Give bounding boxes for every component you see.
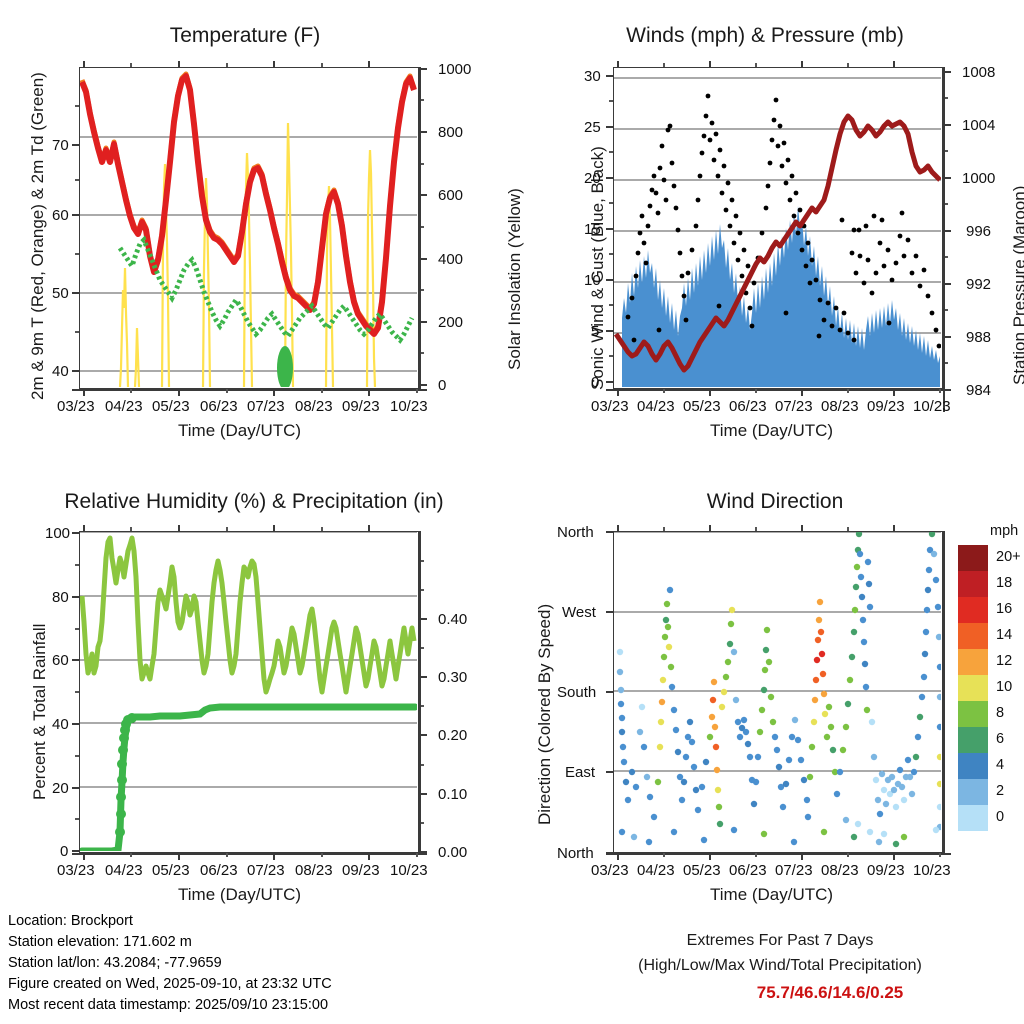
rh-x-tick-5: 08/23 bbox=[295, 862, 333, 879]
temperature-x-axis bbox=[72, 389, 427, 391]
winds-right-spine bbox=[943, 67, 945, 412]
colorbar-label-16: 16 bbox=[996, 601, 1012, 617]
rh-x-tick-0: 03/23 bbox=[57, 862, 95, 879]
colorbar-label-0: 0 bbox=[996, 809, 1004, 825]
x-tick-5: 08/23 bbox=[295, 398, 333, 415]
y2-tick-800: 800 bbox=[438, 124, 463, 141]
wind-tick-5: 5 bbox=[591, 323, 599, 340]
relative-humidity-series bbox=[82, 538, 414, 692]
wind-tick-15: 15 bbox=[584, 221, 601, 238]
rh-x-tick-6: 09/23 bbox=[342, 862, 380, 879]
winds-x-axis bbox=[606, 389, 951, 391]
direction-x-axis bbox=[606, 853, 951, 855]
pressure-tick-988: 988 bbox=[966, 329, 991, 346]
y2-tick-400: 400 bbox=[438, 251, 463, 268]
colorbar-swatch-14 bbox=[958, 623, 988, 649]
rh-tick-80: 80 bbox=[52, 589, 69, 606]
pressure-axis-label: Station Pressure (Maroon) bbox=[1010, 186, 1024, 385]
precip-tick-010: 0.10 bbox=[438, 786, 467, 803]
humidity-plot-svg bbox=[80, 532, 417, 851]
colorbar-swatch-6 bbox=[958, 727, 988, 753]
colorbar-label-2: 2 bbox=[996, 783, 1004, 799]
x-tick-6: 09/23 bbox=[342, 398, 380, 415]
colorbar-swatch-12 bbox=[958, 649, 988, 675]
winds-plot-frame bbox=[613, 67, 943, 389]
colorbar-label-20plus: 20+ bbox=[996, 549, 1021, 565]
humidity-x-axis bbox=[72, 853, 427, 855]
pressure-tick-984: 984 bbox=[966, 382, 991, 399]
colorbar-unit-label: mph bbox=[990, 523, 1018, 539]
colorbar-swatch-16 bbox=[958, 597, 988, 623]
rh-x-tick-3: 06/23 bbox=[200, 862, 238, 879]
footer-timestamp: Most recent data timestamp: 2025/09/10 2… bbox=[8, 997, 328, 1013]
dir-x-tick-2: 05/23 bbox=[683, 862, 721, 879]
y2-tick-200: 200 bbox=[438, 314, 463, 331]
precip-tick-000: 0.00 bbox=[438, 844, 467, 861]
pressure-tick-1008: 1008 bbox=[962, 64, 995, 81]
y2-tick-600: 600 bbox=[438, 187, 463, 204]
dir-x-tick-4: 07/23 bbox=[775, 862, 813, 879]
x-tick-7: 10/23 bbox=[390, 398, 428, 415]
extremes-values: 75.7/46.6/14.6/0.25 bbox=[700, 983, 960, 1003]
rh-x-tick-7: 10/23 bbox=[390, 862, 428, 879]
temperature-2m-red-series bbox=[82, 76, 414, 334]
dir-tick-east: East bbox=[565, 764, 595, 781]
rh-tick-40: 40 bbox=[52, 716, 69, 733]
humidity-y-axis-label: Percent & Total Rainfall bbox=[30, 624, 50, 800]
colorbar-label-4: 4 bbox=[996, 757, 1004, 773]
wind-x-tick-5: 08/23 bbox=[821, 398, 859, 415]
footer-created: Figure created on Wed, 2025-09-10, at 23… bbox=[8, 976, 332, 992]
colorbar-swatch-20plus bbox=[958, 545, 988, 571]
footer-location: Location: Brockport bbox=[8, 913, 133, 929]
precip-tick-040: 0.40 bbox=[438, 611, 467, 628]
footer-latlon: Station lat/lon: 43.2084; -77.9659 bbox=[8, 955, 222, 971]
wind-direction-plot-svg bbox=[614, 532, 941, 851]
sonic-wind-blue-series bbox=[622, 206, 940, 387]
wind-direction-title: Wind Direction bbox=[650, 490, 900, 514]
x-tick-2: 05/23 bbox=[152, 398, 190, 415]
rh-x-tick-2: 05/23 bbox=[152, 862, 190, 879]
humidity-right-spine bbox=[419, 531, 421, 853]
winds-x-axis-label: Time (Day/UTC) bbox=[710, 421, 833, 441]
y2-tick-0: 0 bbox=[438, 377, 446, 394]
x-tick-1: 04/23 bbox=[105, 398, 143, 415]
y2-tick-1000: 1000 bbox=[438, 61, 471, 78]
dir-tick-west: West bbox=[562, 604, 596, 621]
x-tick-4: 07/23 bbox=[247, 398, 285, 415]
precip-tick-020: 0.20 bbox=[438, 727, 467, 744]
extremes-subtitle: (High/Low/Max Wind/Total Precipitation) bbox=[600, 957, 960, 975]
colorbar-label-10: 10 bbox=[996, 679, 1012, 695]
dir-x-tick-3: 06/23 bbox=[729, 862, 767, 879]
direction-right-spine bbox=[943, 531, 945, 853]
colorbar-label-18: 18 bbox=[996, 575, 1012, 591]
temperature-plot-svg bbox=[80, 68, 417, 387]
dir-tick-north-bottom: North bbox=[557, 845, 594, 862]
dir-x-tick-1: 04/23 bbox=[637, 862, 675, 879]
wind-x-tick-3: 06/23 bbox=[729, 398, 767, 415]
wind-tick-0: 0 bbox=[591, 374, 599, 391]
wind-direction-points bbox=[617, 532, 941, 847]
wind-x-tick-2: 05/23 bbox=[683, 398, 721, 415]
wind-direction-plot-frame bbox=[613, 531, 943, 853]
extremes-title: Extremes For Past 7 Days bbox=[620, 932, 940, 950]
temperature-y-axis-label: 2m & 9m T (Red, Orange) & 2m Td (Green) bbox=[28, 72, 48, 400]
rh-tick-0: 0 bbox=[60, 843, 68, 860]
y-tick-50: 50 bbox=[52, 285, 69, 302]
colorbar-swatch-4 bbox=[958, 753, 988, 779]
rh-tick-60: 60 bbox=[52, 652, 69, 669]
wind-tick-30: 30 bbox=[584, 68, 601, 85]
wind-tick-10: 10 bbox=[584, 272, 601, 289]
dir-x-tick-5: 08/23 bbox=[821, 862, 859, 879]
y-tick-70: 70 bbox=[52, 137, 69, 154]
colorbar-label-6: 6 bbox=[996, 731, 1004, 747]
wind-speed-colorbar: mph 20+181614121086420 bbox=[958, 545, 1024, 845]
total-rainfall-series bbox=[82, 707, 415, 851]
colorbar-label-8: 8 bbox=[996, 705, 1004, 721]
colorbar-swatch-10 bbox=[958, 675, 988, 701]
dir-x-tick-6: 09/23 bbox=[867, 862, 905, 879]
temperature-right-spine bbox=[419, 67, 421, 389]
colorbar-swatch-2 bbox=[958, 779, 988, 805]
humidity-x-axis-label: Time (Day/UTC) bbox=[178, 885, 301, 905]
colorbar-label-14: 14 bbox=[996, 627, 1012, 643]
wind-x-tick-4: 07/23 bbox=[775, 398, 813, 415]
pressure-tick-996: 996 bbox=[966, 223, 991, 240]
dir-x-tick-7: 10/23 bbox=[913, 862, 951, 879]
wind-x-tick-1: 04/23 bbox=[637, 398, 675, 415]
dir-x-tick-0: 03/23 bbox=[591, 862, 629, 879]
winds-pressure-title: Winds (mph) & Pressure (mb) bbox=[595, 24, 935, 48]
wind-tick-20: 20 bbox=[584, 170, 601, 187]
temperature-plot-frame bbox=[79, 67, 419, 389]
dir-tick-north-top: North bbox=[557, 524, 594, 541]
y-tick-60: 60 bbox=[52, 207, 69, 224]
wind-x-tick-6: 09/23 bbox=[867, 398, 905, 415]
precip-tick-030: 0.30 bbox=[438, 669, 467, 686]
solar-insolation-axis-label: Solar Insolation (Yellow) bbox=[505, 188, 525, 370]
rh-tick-100: 100 bbox=[45, 525, 70, 542]
pressure-tick-1000: 1000 bbox=[962, 170, 995, 187]
winds-plot-svg bbox=[614, 68, 941, 387]
rh-tick-20: 20 bbox=[52, 780, 69, 797]
direction-x-axis-label: Time (Day/UTC) bbox=[710, 885, 833, 905]
direction-y-axis-label: Direction (Colored By Speed) bbox=[535, 604, 555, 825]
pressure-tick-1004: 1004 bbox=[962, 117, 995, 134]
dir-tick-south: South bbox=[557, 684, 596, 701]
wind-x-tick-0: 03/23 bbox=[591, 398, 629, 415]
colorbar-swatch-18 bbox=[958, 571, 988, 597]
colorbar-swatch-8 bbox=[958, 701, 988, 727]
pressure-tick-992: 992 bbox=[966, 276, 991, 293]
footer-elevation: Station elevation: 171.602 m bbox=[8, 934, 192, 950]
colorbar-label-12: 12 bbox=[996, 653, 1012, 669]
wind-x-tick-7: 10/23 bbox=[913, 398, 951, 415]
rh-x-tick-4: 07/23 bbox=[247, 862, 285, 879]
rh-x-tick-1: 04/23 bbox=[105, 862, 143, 879]
temperature-x-axis-label: Time (Day/UTC) bbox=[178, 421, 301, 441]
humidity-plot-frame bbox=[79, 531, 419, 853]
wind-tick-25: 25 bbox=[584, 119, 601, 136]
y-tick-40: 40 bbox=[52, 363, 69, 380]
x-tick-0: 03/23 bbox=[57, 398, 95, 415]
humidity-title: Relative Humidity (%) & Precipitation (i… bbox=[24, 490, 484, 514]
x-tick-3: 06/23 bbox=[200, 398, 238, 415]
colorbar-swatch-0 bbox=[958, 805, 988, 831]
temperature-title: Temperature (F) bbox=[95, 24, 395, 48]
